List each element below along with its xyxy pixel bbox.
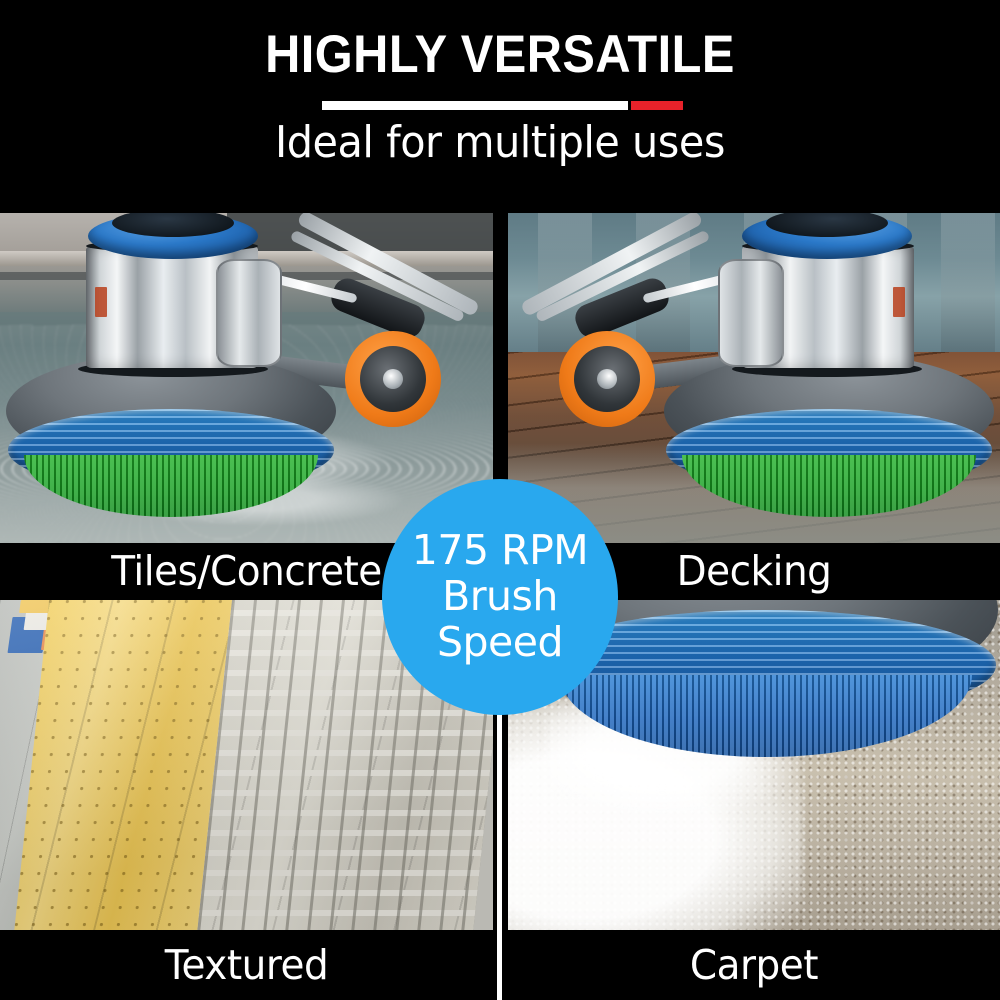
green-brush	[24, 455, 318, 517]
page-title: HIGHLY VERSATILE	[40, 28, 960, 81]
photo-decking	[508, 213, 1000, 543]
floor-polisher-machine-tiles	[0, 213, 493, 543]
panel-caption-textured: Textured	[12, 945, 480, 986]
badge-line-speed: Speed	[412, 620, 588, 666]
capacitor-canister	[718, 259, 784, 367]
floor-polisher-machine-decking	[508, 213, 1000, 543]
brand-logo-mark	[893, 287, 905, 317]
product-feature-image: HIGHLY VERSATILE Ideal for multiple uses	[0, 0, 1000, 1000]
green-brush	[682, 455, 976, 517]
wheel-axle-cap	[383, 369, 403, 389]
panel-caption-carpet: Carpet	[520, 945, 987, 986]
divider-white-segment	[322, 101, 628, 110]
blue-brush	[560, 675, 972, 757]
title-divider	[322, 101, 683, 110]
badge-line-rpm: 175 RPM	[412, 528, 588, 574]
badge-text: 175 RPM Brush Speed	[412, 528, 588, 666]
wheel-axle-cap	[597, 369, 617, 389]
brush-speed-badge: 175 RPM Brush Speed	[382, 479, 618, 715]
page-subtitle: Ideal for multiple uses	[30, 120, 970, 166]
header-banner: HIGHLY VERSATILE Ideal for multiple uses	[0, 0, 1000, 213]
photo-tiles-concrete	[0, 213, 493, 543]
badge-line-brush: Brush	[412, 574, 588, 620]
capacitor-canister	[216, 259, 282, 367]
brand-logo-mark	[95, 287, 107, 317]
divider-red-segment	[631, 101, 683, 110]
